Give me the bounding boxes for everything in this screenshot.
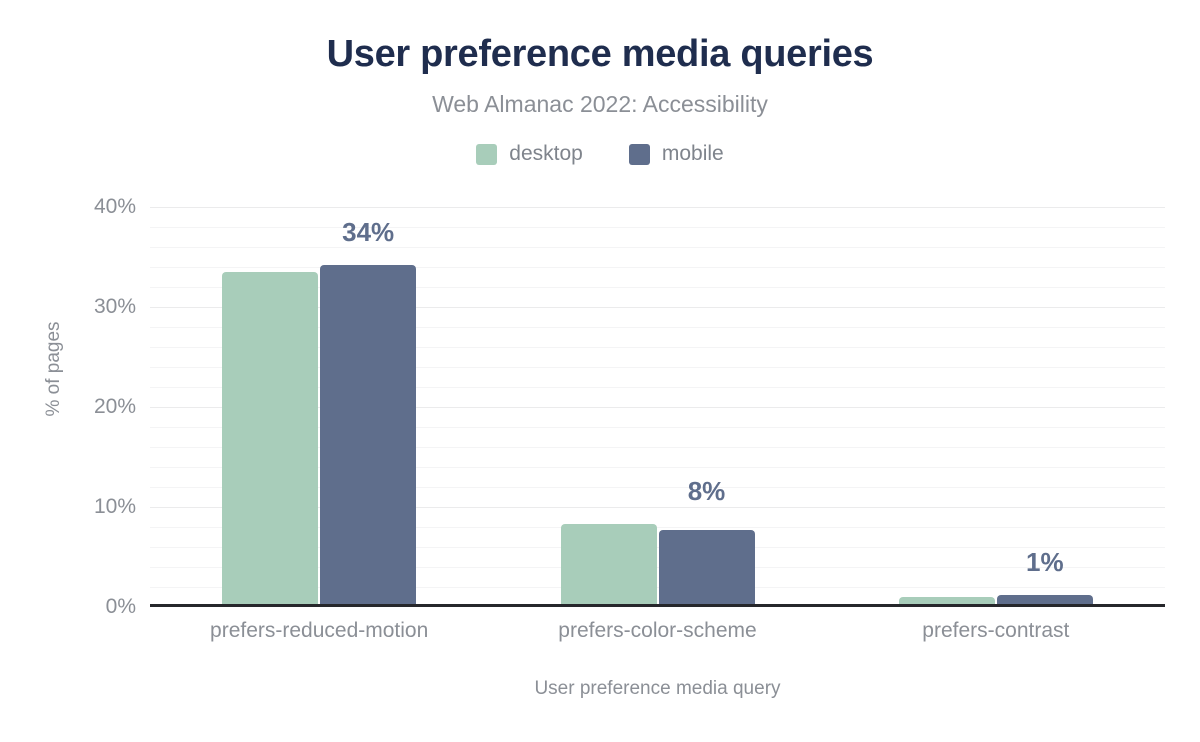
y-axis-tick-label: 40% [16,195,136,219]
legend-item-desktop[interactable]: desktop [476,142,583,166]
y-axis-tick-label: 0% [16,595,136,619]
legend-swatch-icon [476,144,497,165]
bar-desktop-prefers-color-scheme[interactable] [561,524,657,607]
bar-mobile-prefers-color-scheme[interactable] [659,530,755,607]
gridline-major [150,207,1165,208]
legend-item-mobile[interactable]: mobile [629,142,724,166]
x-axis-tick-label: prefers-contrast [796,618,1196,644]
legend-swatch-icon [629,144,650,165]
y-axis-tick-label: 20% [16,395,136,419]
chart-legend: desktopmobile [0,142,1200,166]
bar-mobile-prefers-reduced-motion[interactable] [320,265,416,607]
chart-title: User preference media queries [0,30,1200,78]
gridline-minor [150,247,1165,248]
bar-desktop-prefers-reduced-motion[interactable] [222,272,318,607]
gridline-minor [150,267,1165,268]
data-label: 34% [268,217,468,247]
data-label: 1% [945,547,1145,577]
x-axis-title: User preference media query [150,677,1165,701]
data-label: 8% [607,476,807,506]
y-axis-title: % of pages [43,309,65,429]
x-axis-line [150,604,1165,607]
y-axis-tick-label: 10% [16,495,136,519]
y-axis-tick-label: 30% [16,295,136,319]
bar-chart: User preference media queries Web Almana… [0,0,1200,742]
chart-subtitle: Web Almanac 2022: Accessibility [0,89,1200,119]
legend-label: desktop [509,142,583,166]
legend-label: mobile [662,142,724,166]
